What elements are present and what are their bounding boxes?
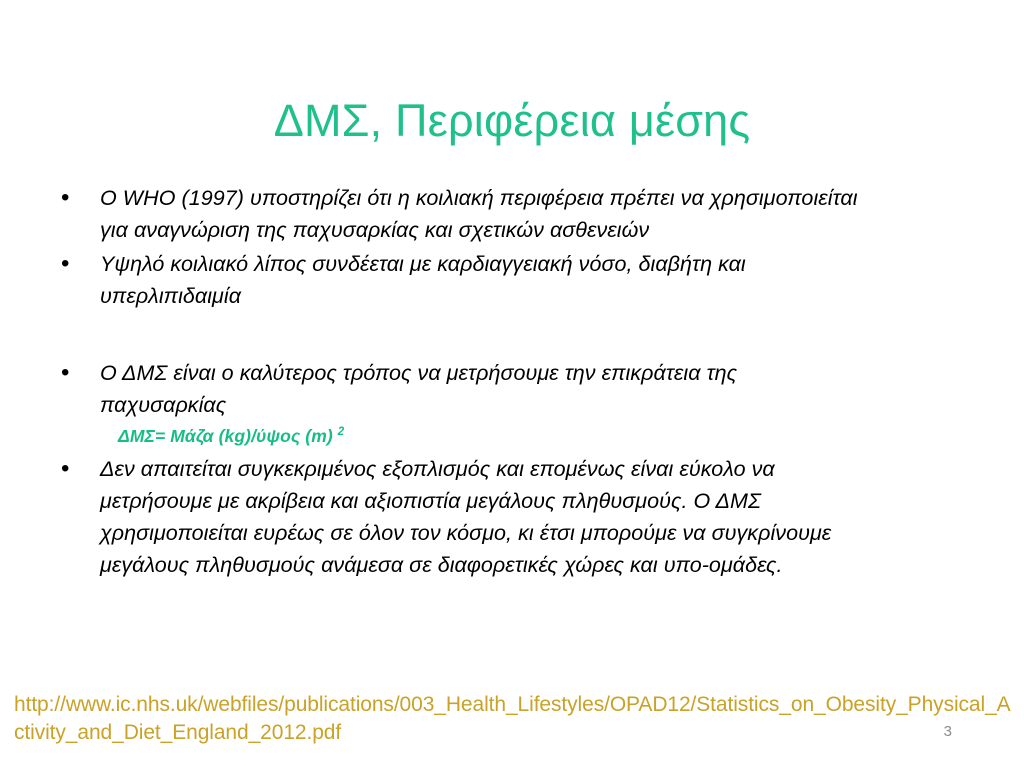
list-item: • Ο ΔΜΣ είναι ο καλύτερος τρόπος να μετρ… [52, 357, 952, 421]
bmi-formula-exponent: 2 [338, 426, 345, 438]
presentation-slide: ΔΜΣ, Περιφέρεια μέσης • Ο WHO (1997) υπο… [0, 0, 1024, 768]
list-item: • Υψηλό κοιλιακό λίπος συνδέεται με καρδ… [52, 248, 952, 312]
slide-body: • Ο WHO (1997) υποστηρίζει ότι η κοιλιακ… [52, 182, 952, 583]
bullet-dot-icon: • [61, 248, 69, 280]
source-url-link[interactable]: http://www.ic.nhs.uk/webfiles/publicatio… [14, 691, 1014, 747]
bullet-dot-icon: • [61, 182, 69, 214]
bullet-dot-icon: • [61, 357, 69, 389]
blank-line-spacer [52, 314, 952, 357]
bmi-formula-base: ΔΜΣ= Μάζα (kg)/ύψος (m) [118, 426, 338, 446]
list-item: • Δεν απαιτείται συγκεκριμένος εξοπλισμό… [52, 453, 952, 581]
bullet-text-1: Ο WHO (1997) υποστηρίζει ότι η κοιλιακή … [100, 182, 890, 246]
bullet-text-4: Δεν απαιτείται συγκεκριμένος εξοπλισμός … [100, 453, 875, 581]
list-item: • Ο WHO (1997) υποστηρίζει ότι η κοιλιακ… [52, 182, 952, 246]
bullet-text-3: Ο ΔΜΣ είναι ο καλύτερος τρόπος να μετρήσ… [100, 357, 860, 421]
bmi-formula: ΔΜΣ= Μάζα (kg)/ύψος (m) 2 [118, 423, 952, 449]
bullet-text-2: Υψηλό κοιλιακό λίπος συνδέεται με καρδια… [100, 248, 890, 312]
page-number: 3 [944, 722, 952, 742]
bullet-dot-icon: • [61, 453, 69, 485]
slide-title: ΔΜΣ, Περιφέρεια μέσης [0, 96, 1024, 146]
